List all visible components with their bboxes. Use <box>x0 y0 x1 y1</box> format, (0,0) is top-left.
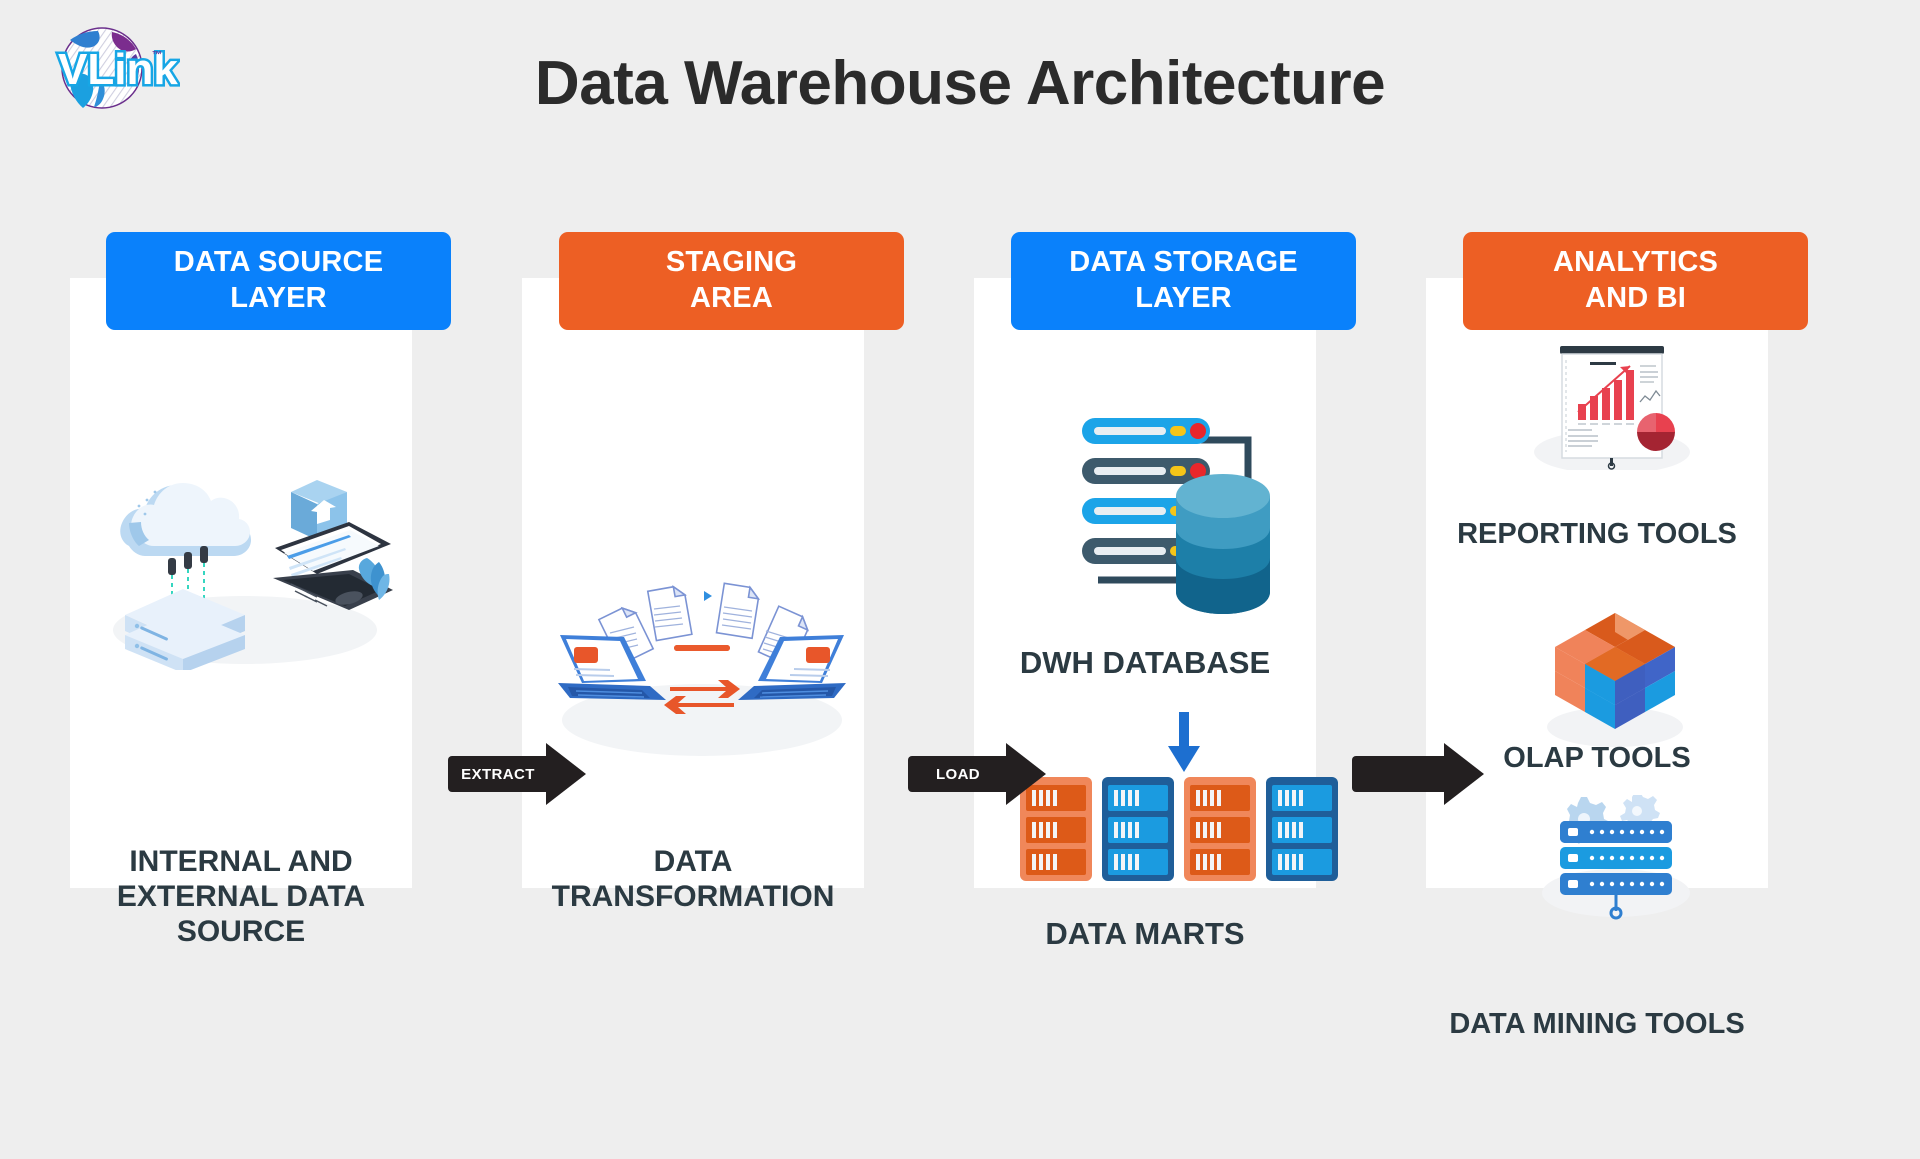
caption-line-2: TRANSFORMATION <box>522 880 864 915</box>
label-reporting-tools: REPORTING TOOLS <box>1426 518 1768 551</box>
header-data-storage-layer[interactable]: DATA STORAGE LAYER <box>1011 232 1356 330</box>
caption-line-1: DATA <box>522 845 864 880</box>
caption-staging-area: DATA TRANSFORMATION <box>522 845 864 915</box>
database-server-rack-icon <box>1058 400 1288 620</box>
dwh-to-marts-arrow <box>1164 712 1204 774</box>
header-line-2: LAYER <box>1135 281 1232 317</box>
header-line-1: DATA STORAGE <box>1069 245 1298 281</box>
data-marts-racks-icon <box>1020 775 1340 885</box>
extract-arrow-label: EXTRACT <box>461 766 535 783</box>
label-dwh-database: DWH DATABASE <box>974 645 1316 681</box>
cloud-server-laptop-icon: WWW <box>95 440 395 670</box>
page-title: Data Warehouse Architecture <box>0 48 1920 119</box>
header-line-1: STAGING <box>666 245 797 281</box>
analytics-arrow <box>1352 743 1486 805</box>
label-data-mining-tools: DATA MINING TOOLS <box>1426 1008 1768 1041</box>
header-data-source-layer[interactable]: DATA SOURCE LAYER <box>106 232 451 330</box>
extract-arrow-body: EXTRACT <box>448 756 548 792</box>
header-line-1: DATA SOURCE <box>174 245 384 281</box>
analytics-arrow-body <box>1352 756 1446 792</box>
laptops-documents-transfer-icon <box>552 575 852 760</box>
header-line-2: AREA <box>690 281 773 317</box>
header-line-2: AND BI <box>1585 281 1686 317</box>
load-arrow: LOAD <box>908 743 1048 805</box>
caption-line-3: SOURCE <box>70 915 412 950</box>
caption-line-1: INTERNAL AND <box>70 845 412 880</box>
caption-data-source: INTERNAL AND EXTERNAL DATA SOURCE <box>70 845 412 949</box>
diagram-canvas: VLink ™ Data Warehouse Architecture DATA… <box>0 0 1920 1159</box>
caption-line-2: EXTERNAL DATA <box>70 880 412 915</box>
presentation-chart-icon <box>1532 340 1692 470</box>
load-arrow-head <box>1006 743 1046 805</box>
load-arrow-label: LOAD <box>936 766 980 783</box>
header-line-1: ANALYTICS <box>1553 245 1718 281</box>
analytics-arrow-head <box>1444 743 1484 805</box>
header-staging-area[interactable]: STAGING AREA <box>559 232 904 330</box>
server-gears-icon <box>1536 795 1696 925</box>
extract-arrow-head <box>546 743 586 805</box>
extract-arrow: EXTRACT <box>448 743 588 805</box>
header-analytics-and-bi[interactable]: ANALYTICS AND BI <box>1463 232 1808 330</box>
header-line-2: LAYER <box>230 281 327 317</box>
label-data-marts: DATA MARTS <box>974 916 1316 952</box>
olap-cube-icon <box>1540 605 1690 755</box>
load-arrow-body: LOAD <box>908 756 1008 792</box>
